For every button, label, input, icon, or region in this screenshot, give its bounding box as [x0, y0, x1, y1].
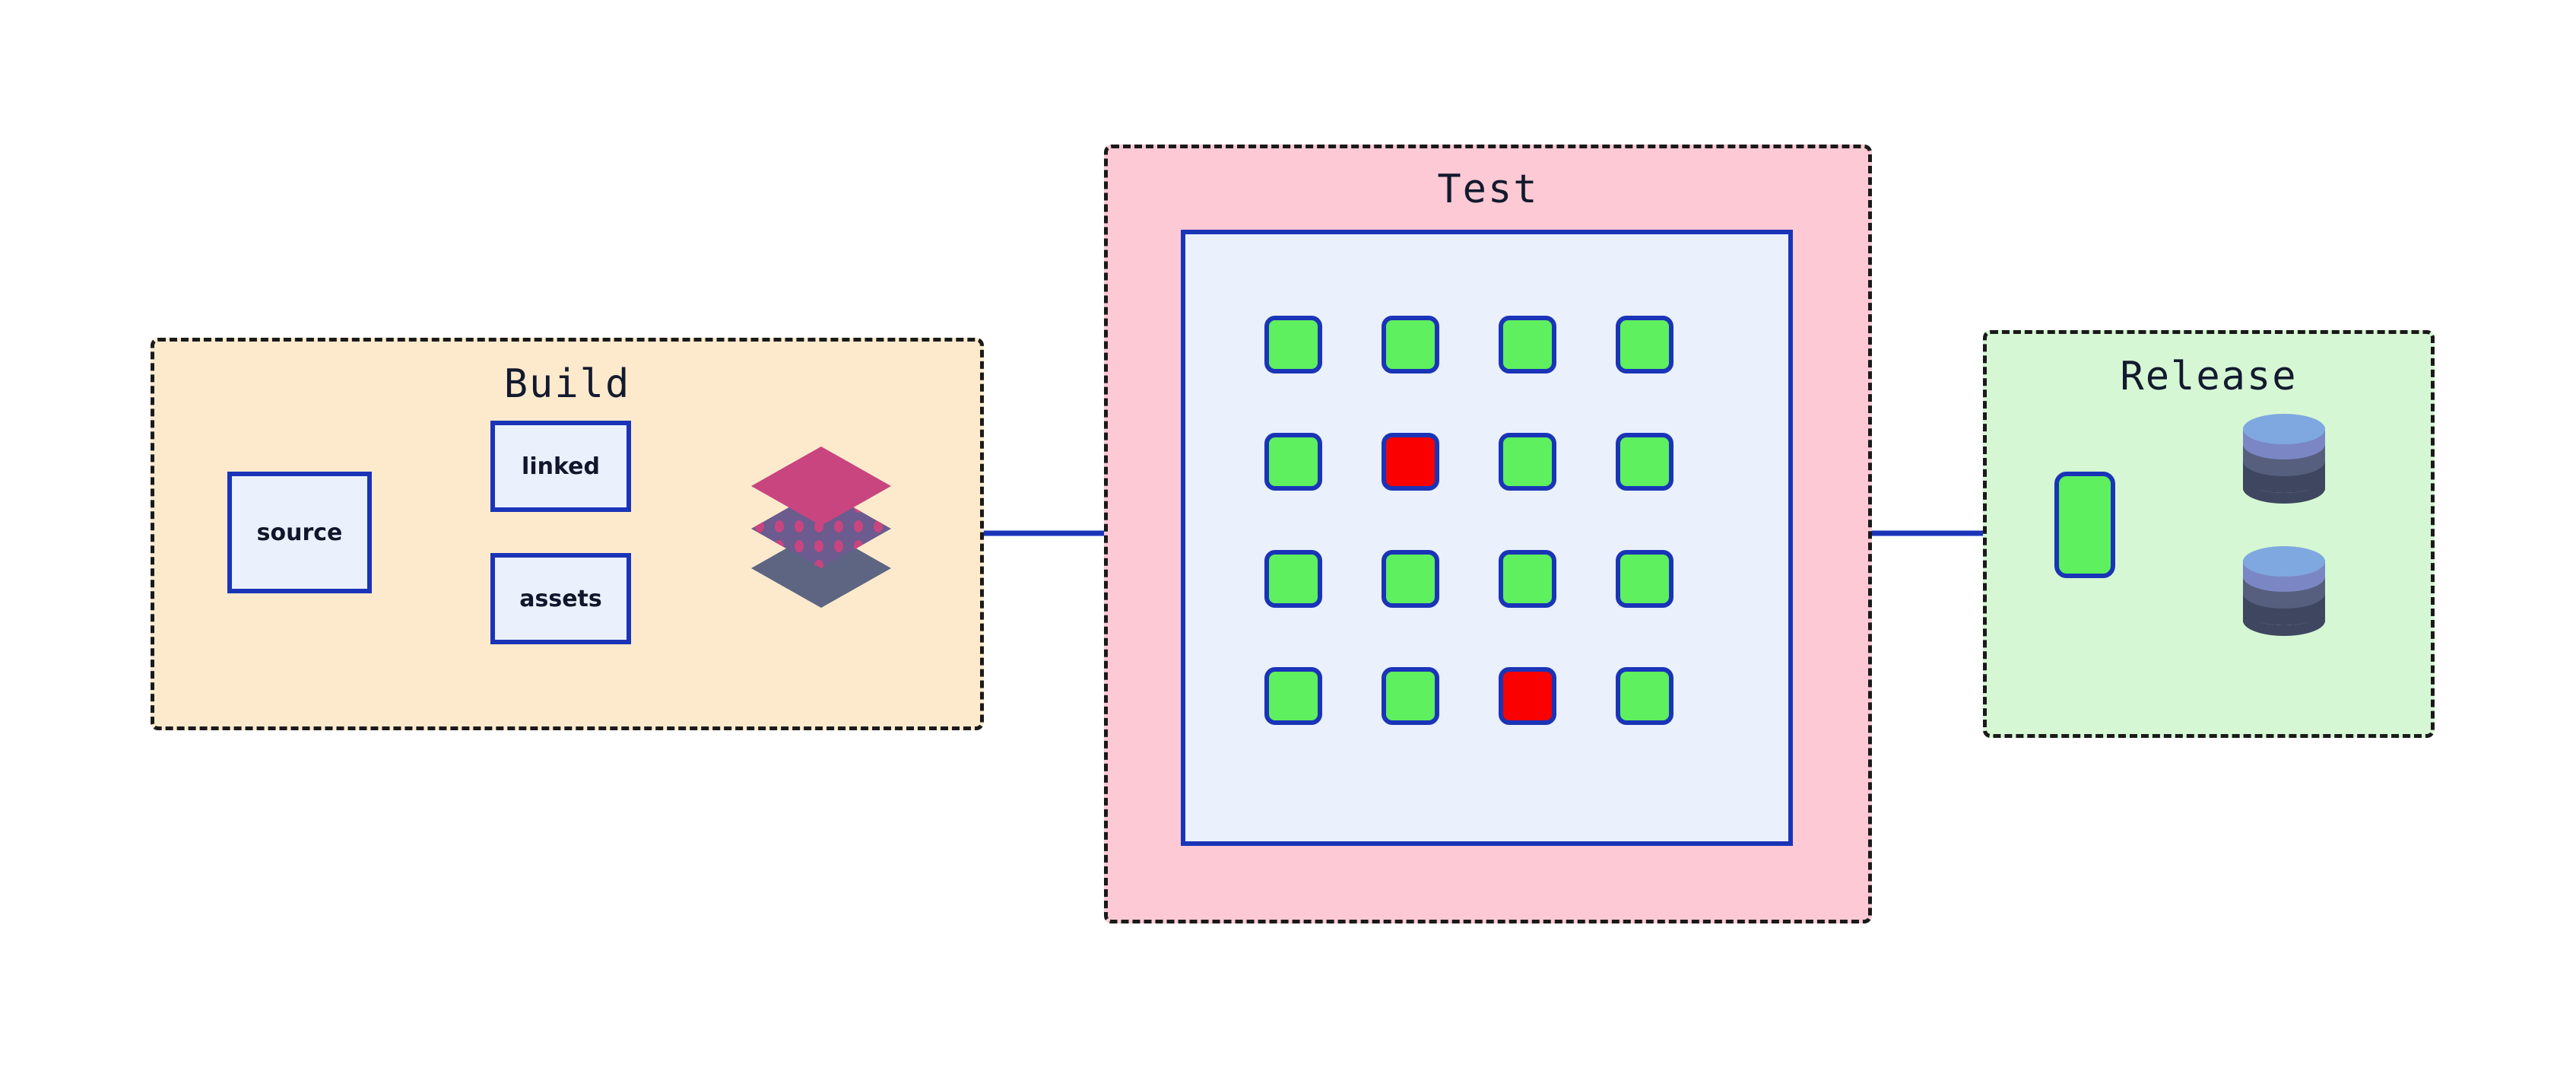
test-cell-fail-r2c2[interactable] [1382, 433, 1439, 491]
layers-stack-icon[interactable] [730, 437, 912, 616]
test-cell-fail-r4c3[interactable] [1499, 667, 1556, 725]
test-cell-pass-r1c1[interactable] [1264, 316, 1322, 373]
node-linked-label: linked [522, 453, 600, 480]
test-results-grid [1264, 316, 1705, 757]
test-cell-pass-r4c4[interactable] [1616, 667, 1673, 725]
test-cell-pass-r1c2[interactable] [1382, 316, 1439, 373]
test-cell-pass-r3c3[interactable] [1499, 550, 1556, 608]
db-top-ellipse [2243, 546, 2325, 577]
release-artifact[interactable] [2054, 472, 2115, 578]
stage-group-release[interactable]: Release [1983, 330, 2435, 738]
test-cell-pass-r3c1[interactable] [1264, 550, 1322, 608]
node-assets-label: assets [519, 586, 602, 612]
stage-title-test: Test [1108, 167, 1868, 212]
test-cell-pass-r4c1[interactable] [1264, 667, 1322, 725]
test-cell-pass-r4c2[interactable] [1382, 667, 1439, 725]
test-cell-pass-r2c1[interactable] [1264, 433, 1322, 491]
stage-title-build: Build [154, 361, 980, 407]
test-cell-pass-r1c4[interactable] [1616, 316, 1673, 373]
test-cell-pass-r3c4[interactable] [1616, 550, 1673, 608]
test-cell-pass-r1c3[interactable] [1499, 316, 1556, 373]
node-source-label: source [257, 520, 343, 546]
test-cell-pass-r2c4[interactable] [1616, 433, 1673, 491]
node-assets[interactable]: assets [490, 553, 631, 644]
stage-title-release: Release [1987, 354, 2431, 399]
test-cell-pass-r2c3[interactable] [1499, 433, 1556, 491]
test-cell-pass-r3c2[interactable] [1382, 550, 1439, 608]
layer-top-shape [751, 447, 891, 526]
database-icon[interactable] [2235, 543, 2333, 640]
node-linked[interactable]: linked [490, 421, 631, 512]
diagram-canvas: Build source linked assets Test Release [0, 0, 2576, 1068]
node-source[interactable]: source [227, 472, 372, 593]
database-icon[interactable] [2235, 411, 2333, 508]
db-top-ellipse [2243, 414, 2325, 444]
